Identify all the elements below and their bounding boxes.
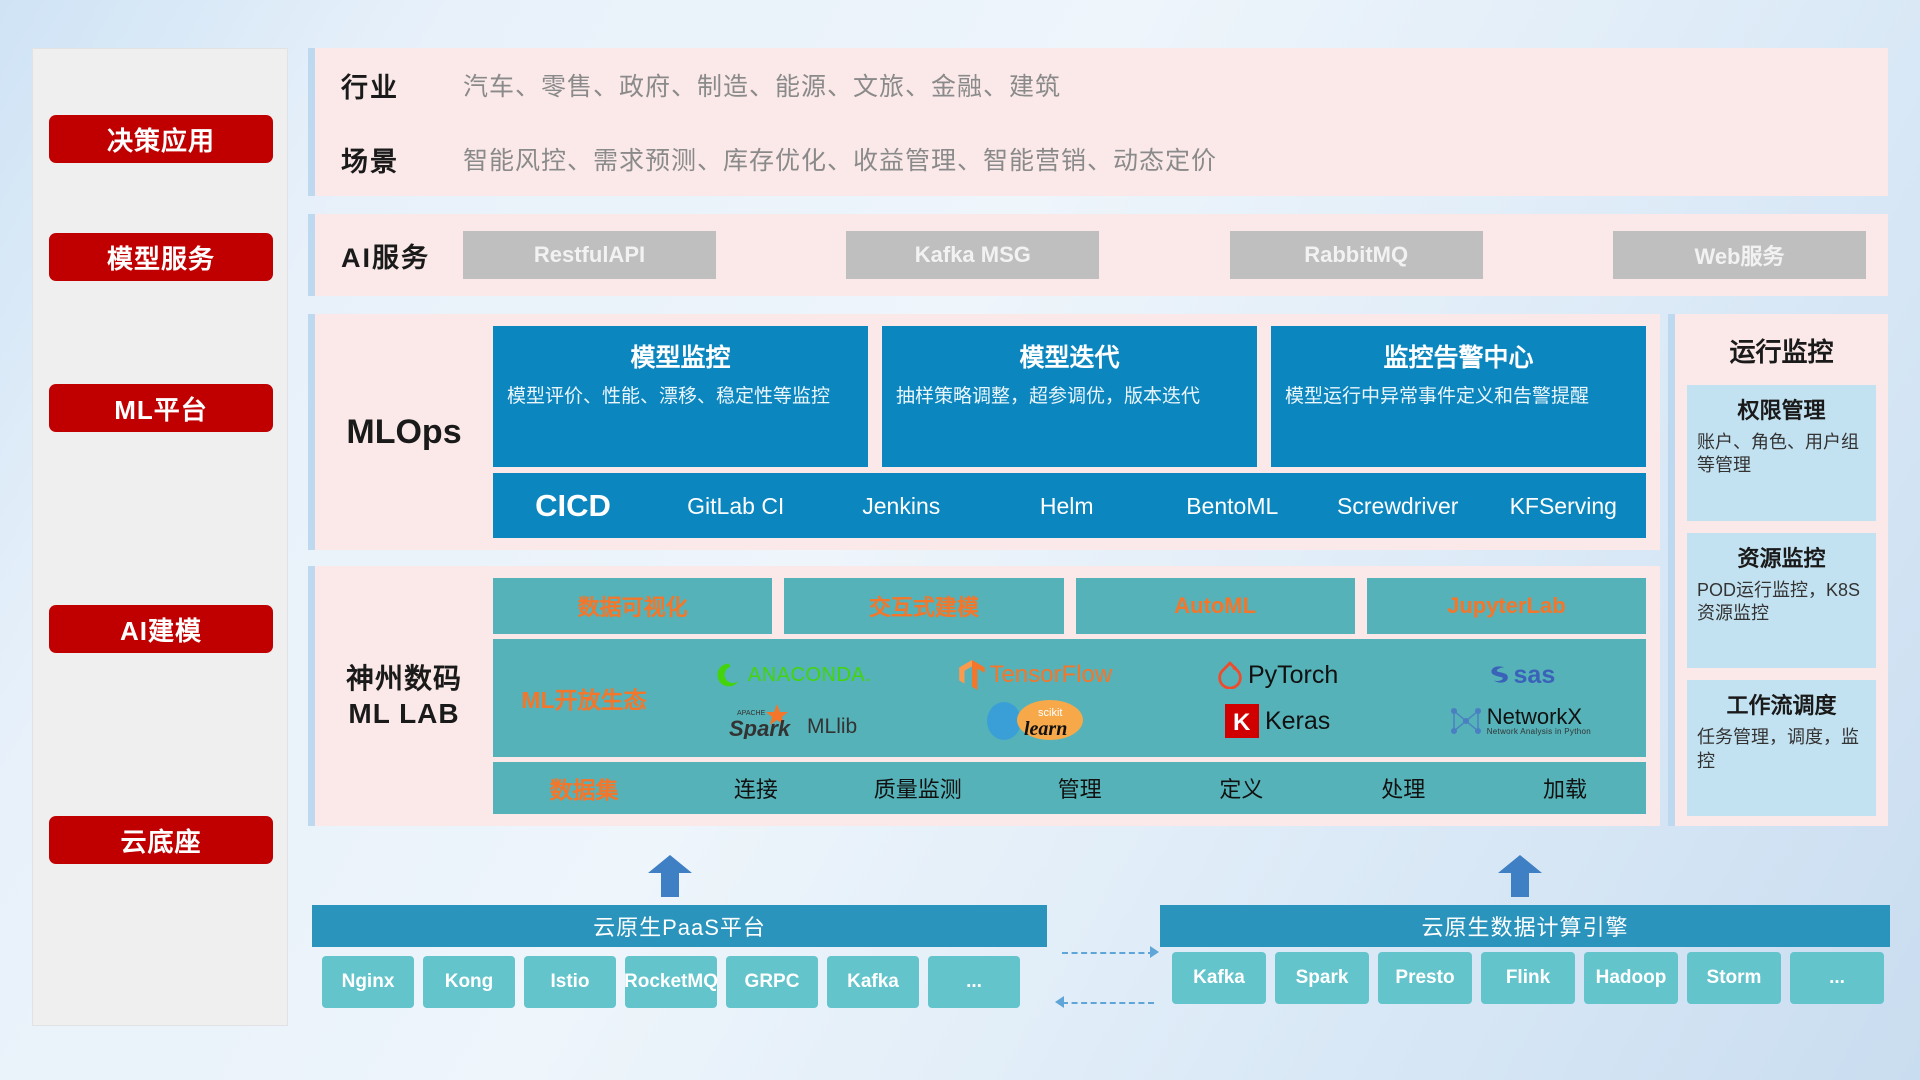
- ml-ecosystem-row: ML开放生态 ANACONDA. TensorFlow: [493, 639, 1646, 757]
- tool-chip-data-visualization[interactable]: 数据可视化: [493, 578, 772, 634]
- engine-pill-storm[interactable]: Storm: [1687, 952, 1781, 1004]
- engine-pill-kafka[interactable]: Kafka: [1172, 952, 1266, 1004]
- decision-application-band: 行业 汽车、零售、政府、制造、能源、文旅、金融、建筑 场景 智能风控、需求预测、…: [308, 48, 1888, 196]
- rail-label: 决策应用: [107, 121, 215, 158]
- service-chip-restfulapi[interactable]: RestfulAPI: [463, 231, 716, 279]
- svg-text:K: K: [1233, 709, 1251, 736]
- cicd-item-jenkins[interactable]: Jenkins: [819, 494, 985, 518]
- anaconda-wordmark: ANACONDA.: [748, 664, 871, 687]
- spark-mllib-logo: APACHE Spark MLlib: [729, 703, 857, 739]
- rail-item-decision[interactable]: 决策应用: [49, 115, 273, 163]
- paas-component-list: Nginx Kong Istio RocketMQ GRPC Kafka ...: [322, 956, 1020, 1008]
- card-desc: 模型运行中异常事件定义和告警提醒: [1285, 384, 1632, 410]
- sas-logo: sas: [1485, 661, 1556, 690]
- dashed-connector-bottom: [1062, 1002, 1154, 1004]
- rail-item-ml-platform[interactable]: ML平台: [49, 384, 273, 432]
- ml-ecosystem-logo-grid: ANACONDA. TensorFlow PyTorch: [675, 653, 1646, 743]
- runtime-monitoring-panel: 运行监控 权限管理 账户、角色、用户组等管理 资源监控 POD运行监控，K8S资…: [1668, 314, 1888, 826]
- paas-pill-kong[interactable]: Kong: [423, 956, 515, 1008]
- pytorch-mark-icon: [1217, 661, 1243, 689]
- tensorflow-wordmark: TensorFlow: [990, 661, 1113, 689]
- networkx-wordmark: NetworkX: [1487, 706, 1591, 728]
- mllib-wordmark: MLlib: [807, 715, 857, 739]
- ml-lab-content: 数据可视化 交互式建模 AutoML JupyterLab ML开放生态 ANA…: [493, 566, 1660, 826]
- engine-pill-presto[interactable]: Presto: [1378, 952, 1472, 1004]
- scikit-learn-logo: scikit learn: [982, 699, 1088, 743]
- arrow-shaft: [1511, 869, 1529, 897]
- engine-pill-more[interactable]: ...: [1790, 952, 1884, 1004]
- cicd-item-gitlab-ci[interactable]: GitLab CI: [653, 494, 819, 518]
- mlops-card-model-iteration[interactable]: 模型迭代 抽样策略调整，超参调优，版本迭代: [882, 326, 1257, 467]
- ai-service-band: AI服务 RestfulAPI Kafka MSG RabbitMQ Web服务: [308, 214, 1888, 296]
- ai-modeling-band: 神州数码 ML LAB 数据可视化 交互式建模 AutoML JupyterLa…: [308, 566, 1660, 826]
- dataset-item-connect[interactable]: 连接: [675, 772, 837, 804]
- pytorch-wordmark: PyTorch: [1248, 661, 1338, 690]
- paas-platform-label: 云原生PaaS平台: [593, 910, 766, 942]
- dashed-arrow-left: [1055, 996, 1064, 1008]
- mlops-card-list: 模型监控 模型评价、性能、漂移、稳定性等监控 模型迭代 抽样策略调整，超参调优，…: [493, 326, 1646, 467]
- paas-pill-kafka[interactable]: Kafka: [827, 956, 919, 1008]
- rail-label: 云底座: [120, 822, 201, 859]
- engine-pill-spark[interactable]: Spark: [1275, 952, 1369, 1004]
- card-desc: 模型评价、性能、漂移、稳定性等监控: [507, 384, 854, 410]
- engine-pill-hadoop[interactable]: Hadoop: [1584, 952, 1678, 1004]
- dashed-arrow-right: [1150, 946, 1159, 958]
- runtime-monitoring-title: 运行监控: [1687, 324, 1876, 373]
- paas-platform-bar[interactable]: 云原生PaaS平台: [312, 905, 1047, 947]
- industry-row: 行业 汽车、零售、政府、制造、能源、文旅、金融、建筑: [315, 48, 1888, 122]
- scenario-row: 场景 智能风控、需求预测、库存优化、收益管理、智能营销、动态定价: [315, 122, 1888, 196]
- ml-ecosystem-label: ML开放生态: [493, 681, 675, 715]
- tool-chip-jupyterlab[interactable]: JupyterLab: [1367, 578, 1646, 634]
- ml-lab-label: 神州数码 ML LAB: [315, 566, 493, 826]
- svg-text:learn: learn: [1024, 718, 1067, 740]
- pytorch-logo: PyTorch: [1217, 661, 1338, 690]
- mlops-card-alert-center[interactable]: 监控告警中心 模型运行中异常事件定义和告警提醒: [1271, 326, 1646, 467]
- cicd-bar: CICD GitLab CI Jenkins Helm BentoML Scre…: [493, 473, 1646, 538]
- monitor-card-permission[interactable]: 权限管理 账户、角色、用户组等管理: [1687, 385, 1876, 521]
- paas-pill-more[interactable]: ...: [928, 956, 1020, 1008]
- rail-label: 模型服务: [107, 239, 215, 276]
- networkx-tagline: Network Analysis in Python: [1487, 728, 1591, 736]
- rail-item-ai-modeling[interactable]: AI建模: [49, 605, 273, 653]
- card-title: 权限管理: [1697, 393, 1866, 425]
- tool-chip-interactive-modeling[interactable]: 交互式建模: [784, 578, 1063, 634]
- tensorflow-logo: TensorFlow: [959, 660, 1113, 690]
- card-desc: POD运行监控，K8S资源监控: [1697, 579, 1866, 626]
- industry-values: 汽车、零售、政府、制造、能源、文旅、金融、建筑: [463, 67, 1061, 103]
- arrow-up-left: [648, 855, 692, 897]
- cicd-item-screwdriver[interactable]: Screwdriver: [1315, 494, 1481, 518]
- dashed-connector-top: [1062, 952, 1154, 954]
- card-title: 资源监控: [1697, 541, 1866, 573]
- scenario-values: 智能风控、需求预测、库存优化、收益管理、智能营销、动态定价: [463, 141, 1217, 177]
- spark-mark-icon: APACHE Spark: [729, 703, 803, 739]
- card-title: 监控告警中心: [1285, 338, 1632, 374]
- card-title: 模型监控: [507, 338, 854, 374]
- anaconda-mark-icon: [715, 661, 743, 689]
- paas-pill-grpc[interactable]: GRPC: [726, 956, 818, 1008]
- ai-service-label: AI服务: [341, 236, 463, 275]
- anaconda-logo: ANACONDA.: [715, 661, 871, 689]
- ml-tool-list: 数据可视化 交互式建模 AutoML JupyterLab: [493, 578, 1646, 634]
- sas-wordmark: sas: [1514, 661, 1556, 690]
- keras-mark-icon: K: [1225, 704, 1259, 738]
- mlops-content: 模型监控 模型评价、性能、漂移、稳定性等监控 模型迭代 抽样策略调整，超参调优，…: [493, 314, 1660, 550]
- keras-wordmark: Keras: [1265, 707, 1330, 736]
- mlops-band: MLOps 模型监控 模型评价、性能、漂移、稳定性等监控 模型迭代 抽样策略调整…: [308, 314, 1660, 550]
- mlops-card-model-monitoring[interactable]: 模型监控 模型评价、性能、漂移、稳定性等监控: [493, 326, 868, 467]
- cicd-title: CICD: [493, 488, 653, 524]
- rail-label: AI建模: [120, 611, 202, 648]
- paas-pill-nginx[interactable]: Nginx: [322, 956, 414, 1008]
- left-stack-rail: 决策应用 模型服务 ML平台 AI建模 云底座: [32, 48, 288, 1026]
- dataset-item-loading[interactable]: 加载: [1484, 772, 1646, 804]
- service-chip-kafka-msg[interactable]: Kafka MSG: [846, 231, 1099, 279]
- service-chip-web[interactable]: Web服务: [1613, 231, 1866, 279]
- card-title: 工作流调度: [1697, 688, 1866, 720]
- paas-pill-istio[interactable]: Istio: [524, 956, 616, 1008]
- rail-item-model-service[interactable]: 模型服务: [49, 233, 273, 281]
- networkx-logo: NetworkX Network Analysis in Python: [1449, 705, 1591, 737]
- arrow-up-right: [1498, 855, 1542, 897]
- tool-chip-automl[interactable]: AutoML: [1076, 578, 1355, 634]
- dataset-item-processing[interactable]: 处理: [1322, 772, 1484, 804]
- scenario-label: 场景: [341, 140, 463, 179]
- paas-pill-rocketmq[interactable]: RocketMQ: [625, 956, 717, 1008]
- card-title: 模型迭代: [896, 338, 1243, 374]
- mlops-label: MLOps: [315, 314, 493, 550]
- dataset-item-list: 连接 质量监测 管理 定义 处理 加载: [675, 772, 1646, 804]
- dataset-label: 数据集: [493, 771, 675, 805]
- ml-lab-label-line2: ML LAB: [348, 696, 459, 731]
- data-compute-engine-bar[interactable]: 云原生数据计算引擎: [1160, 905, 1890, 947]
- ml-lab-label-line1: 神州数码: [346, 661, 462, 696]
- industry-label: 行业: [341, 66, 463, 105]
- tensorflow-mark-icon: [959, 660, 985, 690]
- service-chip-rabbitmq[interactable]: RabbitMQ: [1230, 231, 1483, 279]
- arrow-shaft: [661, 869, 679, 897]
- scikit-orange-blob-icon: scikit learn: [1012, 699, 1088, 743]
- cicd-item-bentoml[interactable]: BentoML: [1150, 494, 1316, 518]
- card-desc: 任务管理，调度，监控: [1697, 726, 1866, 773]
- card-desc: 账户、角色、用户组等管理: [1697, 431, 1866, 478]
- dataset-item-quality-monitoring[interactable]: 质量监测: [837, 772, 999, 804]
- dataset-item-management[interactable]: 管理: [999, 772, 1161, 804]
- rail-label: ML平台: [114, 390, 208, 427]
- cicd-item-kfserving[interactable]: KFServing: [1481, 494, 1647, 518]
- dataset-row: 数据集 连接 质量监测 管理 定义 处理 加载: [493, 762, 1646, 814]
- data-compute-engine-label: 云原生数据计算引擎: [1421, 910, 1628, 942]
- dataset-item-definition[interactable]: 定义: [1160, 772, 1322, 804]
- keras-logo: K Keras: [1225, 704, 1330, 738]
- cicd-item-helm[interactable]: Helm: [984, 494, 1150, 518]
- data-engine-component-list: Kafka Spark Presto Flink Hadoop Storm ..…: [1172, 952, 1884, 1004]
- cicd-item-list: GitLab CI Jenkins Helm BentoML Screwdriv…: [653, 494, 1646, 518]
- sas-mark-icon: [1485, 662, 1511, 688]
- engine-pill-flink[interactable]: Flink: [1481, 952, 1575, 1004]
- rail-item-cloud-base[interactable]: 云底座: [49, 816, 273, 864]
- ai-service-chip-list: RestfulAPI Kafka MSG RabbitMQ Web服务: [463, 231, 1888, 279]
- monitor-card-workflow[interactable]: 工作流调度 任务管理，调度，监控: [1687, 680, 1876, 816]
- svg-text:Spark: Spark: [729, 716, 792, 739]
- monitor-card-resource[interactable]: 资源监控 POD运行监控，K8S资源监控: [1687, 533, 1876, 669]
- card-desc: 抽样策略调整，超参调优，版本迭代: [896, 384, 1243, 410]
- networkx-mark-icon: [1449, 705, 1483, 737]
